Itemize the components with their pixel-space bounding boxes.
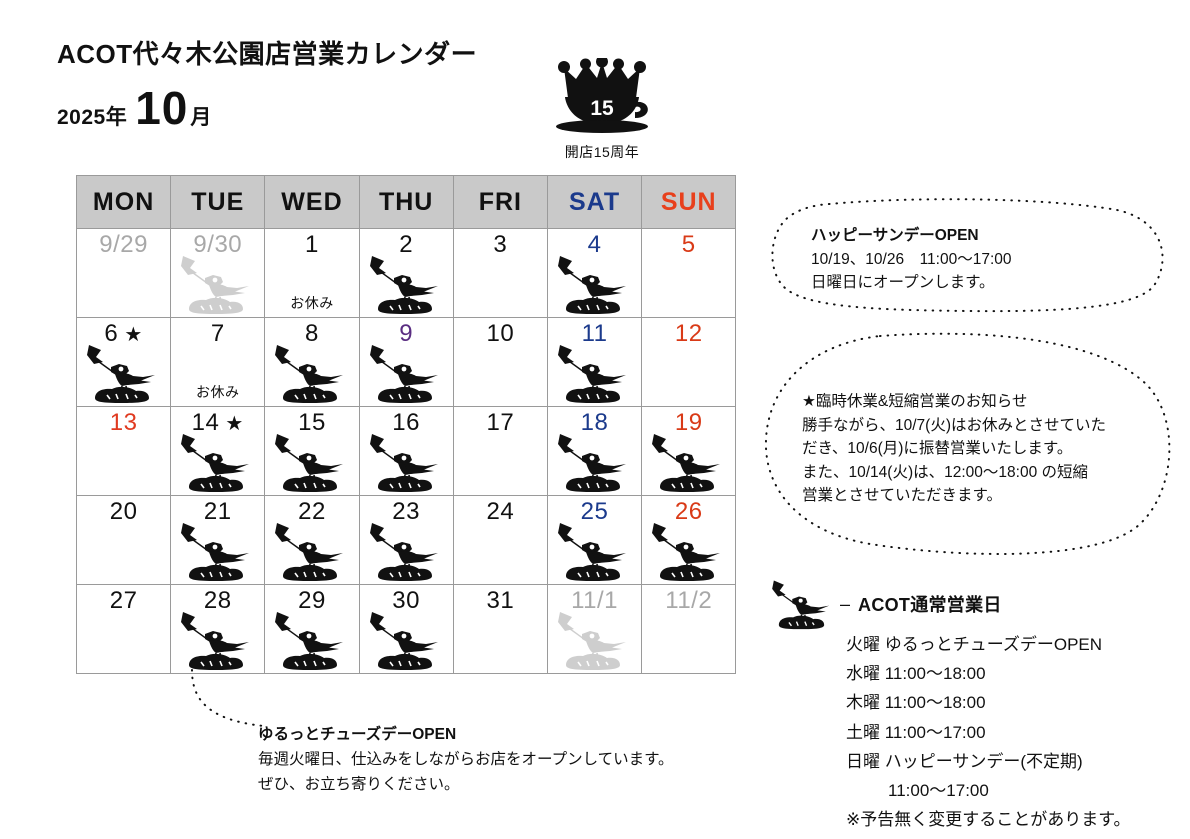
bird-icon (364, 609, 440, 671)
calendar-day-cell[interactable]: 9/29 (77, 229, 171, 318)
anniversary-caption: 開店15周年 (541, 142, 663, 162)
calendar-body: 9/299/301お休み23456 ★7お休み891011121314 ★151… (77, 229, 736, 674)
month-number: 10 (135, 85, 188, 131)
calendar-day-cell[interactable]: 7お休み (171, 318, 265, 407)
weekday-header-wed: WED (265, 176, 359, 229)
calendar-day-cell[interactable]: 9/30 (171, 229, 265, 318)
calendar-day-cell[interactable]: 11/2 (642, 585, 736, 674)
bird-icon (269, 342, 345, 404)
bird-icon (175, 431, 251, 493)
calendar-day-cell[interactable]: 2 (359, 229, 453, 318)
bird-icon (552, 253, 628, 315)
calendar-day-cell[interactable]: 13 (77, 407, 171, 496)
callout-line: だき、10/6(月)に振替営業いたします。 (802, 437, 1106, 461)
calendar-week-row: 20212223242526 (77, 496, 736, 585)
month-heading: 2025年 10 月 (57, 85, 211, 131)
day-number: 31 (454, 588, 547, 614)
weekday-header-thu: THU (359, 176, 453, 229)
bird-icon (762, 578, 836, 630)
calendar-day-cell[interactable]: 27 (77, 585, 171, 674)
calendar-day-cell[interactable]: 26 (642, 496, 736, 585)
bird-icon (175, 520, 251, 582)
tuesday-note-line: 毎週火曜日、仕込みをしながらお店をオープンしています。 (258, 748, 674, 773)
calendar-header-row: MONTUEWEDTHUFRISATSUN (77, 176, 736, 229)
closed-note: お休み (171, 382, 264, 402)
calendar-day-cell[interactable]: 16 (359, 407, 453, 496)
calendar-day-cell[interactable]: 18 (547, 407, 641, 496)
calendar-day-cell[interactable]: 19 (642, 407, 736, 496)
bird-icon (364, 520, 440, 582)
legend-header: – ACOT通常営業日 (762, 580, 1182, 628)
calendar-day-cell[interactable]: 14 ★ (171, 407, 265, 496)
legend-line: 11:00〜17:00 (846, 776, 1182, 805)
calendar-day-cell[interactable]: 5 (642, 229, 736, 318)
weekday-header-sun: SUN (642, 176, 736, 229)
legend-line: 火曜 ゆるっとチューズデーOPEN (846, 630, 1182, 659)
tuesday-open-note: ゆるっとチューズデーOPEN 毎週火曜日、仕込みをしながらお店をオープンしていま… (258, 723, 674, 797)
calendar-day-cell[interactable]: 1お休み (265, 229, 359, 318)
calendar-day-cell[interactable]: 6 ★ (77, 318, 171, 407)
day-number: 1 (265, 232, 358, 258)
calendar-day-cell[interactable]: 8 (265, 318, 359, 407)
day-number: 7 (171, 321, 264, 347)
calendar-day-cell[interactable]: 4 (547, 229, 641, 318)
anniversary-badge: 15 開店15周年 (541, 58, 663, 162)
dotted-leader-line (186, 668, 266, 738)
calendar-day-cell[interactable]: 3 (453, 229, 547, 318)
weekday-header-tue: TUE (171, 176, 265, 229)
calendar-day-cell[interactable]: 23 (359, 496, 453, 585)
calendar-day-cell[interactable]: 24 (453, 496, 547, 585)
callout-line: 勝手ながら、10/7(火)はお休みとさせていた (802, 414, 1106, 438)
closed-note: お休み (265, 293, 358, 313)
month-suffix-label: 月 (190, 101, 211, 131)
page-title: ACOT代々木公園店営業カレンダー (57, 34, 477, 71)
legend-line: 土曜 11:00〜17:00 (846, 718, 1182, 747)
legend-line: 日曜 ハッピーサンデー(不定期) (846, 747, 1182, 776)
calendar-day-cell[interactable]: 9 (359, 318, 453, 407)
bird-icon (175, 253, 251, 315)
day-number: 20 (77, 499, 170, 525)
legend-title: ACOT通常営業日 (858, 591, 1002, 617)
callout-closure-notice: ★臨時休業&短縮営業のお知らせ 勝手ながら、10/7(火)はお休みとさせていた … (760, 330, 1174, 555)
callout-happy-sunday-text: ハッピーサンデーOPEN 10/19、10/26 11:00〜17:00 日曜日… (811, 224, 1012, 295)
bird-icon (269, 431, 345, 493)
calendar-day-cell[interactable]: 29 (265, 585, 359, 674)
legend: – ACOT通常営業日 火曜 ゆるっとチューズデーOPEN水曜 11:00〜18… (762, 580, 1182, 835)
callout-line: 日曜日にオープンします。 (811, 271, 1012, 295)
legend-hours-list: 火曜 ゆるっとチューズデーOPEN水曜 11:00〜18:00木曜 11:00〜… (846, 630, 1182, 835)
tuesday-note-line: ゆるっとチューズデーOPEN (258, 723, 674, 748)
bird-icon (552, 342, 628, 404)
calendar-day-cell[interactable]: 12 (642, 318, 736, 407)
day-number: 11/2 (642, 588, 735, 614)
calendar-week-row: 9/299/301お休み2345 (77, 229, 736, 318)
bird-icon (364, 431, 440, 493)
tuesday-note-line: ぜひ、お立ち寄りください。 (258, 773, 674, 798)
weekday-header-mon: MON (77, 176, 171, 229)
bird-icon (552, 431, 628, 493)
day-number: 5 (642, 232, 735, 258)
day-number: 10 (454, 321, 547, 347)
bird-icon (552, 609, 628, 671)
callout-line: ハッピーサンデーOPEN (811, 224, 1012, 248)
calendar-day-cell[interactable]: 30 (359, 585, 453, 674)
weekday-header-sat: SAT (547, 176, 641, 229)
calendar-day-cell[interactable]: 11 (547, 318, 641, 407)
bird-icon (364, 342, 440, 404)
bird-icon (81, 342, 157, 404)
day-number: 13 (77, 410, 170, 436)
calendar-day-cell[interactable]: 10 (453, 318, 547, 407)
bird-icon (269, 609, 345, 671)
callout-line: また、10/14(火)は、12:00〜18:00 の短縮 (802, 461, 1106, 485)
day-number: 24 (454, 499, 547, 525)
legend-line: 木曜 11:00〜18:00 (846, 688, 1182, 717)
callout-line: ★臨時休業&短縮営業のお知らせ (802, 390, 1106, 414)
calendar-day-cell[interactable]: 22 (265, 496, 359, 585)
weekday-header-fri: FRI (453, 176, 547, 229)
calendar-day-cell[interactable]: 21 (171, 496, 265, 585)
calendar-week-row: 1314 ★1516171819 (77, 407, 736, 496)
callout-closure-notice-text: ★臨時休業&短縮営業のお知らせ 勝手ながら、10/7(火)はお休みとさせていた … (802, 390, 1106, 508)
callout-happy-sunday: ハッピーサンデーOPEN 10/19、10/26 11:00〜17:00 日曜日… (769, 196, 1173, 314)
anniversary-number: 15 (590, 97, 614, 120)
calendar-day-cell[interactable]: 31 (453, 585, 547, 674)
day-number: 3 (454, 232, 547, 258)
crowned-coffee-cup-icon: 15 (541, 58, 663, 136)
calendar-week-row: 6 ★7お休み89101112 (77, 318, 736, 407)
bird-icon (175, 609, 251, 671)
legend-line: 水曜 11:00〜18:00 (846, 659, 1182, 688)
callout-line: 10/19、10/26 11:00〜17:00 (811, 248, 1012, 272)
day-number: 9/29 (77, 232, 170, 258)
day-number: 27 (77, 588, 170, 614)
bird-icon (364, 253, 440, 315)
day-number: 12 (642, 321, 735, 347)
calendar-day-cell[interactable]: 28 (171, 585, 265, 674)
bird-icon (646, 431, 722, 493)
year-label: 2025年 (57, 101, 127, 131)
calendar-day-cell[interactable]: 20 (77, 496, 171, 585)
calendar-day-cell[interactable]: 17 (453, 407, 547, 496)
calendar-day-cell[interactable]: 11/1 (547, 585, 641, 674)
bird-icon (646, 520, 722, 582)
callout-line: 営業とさせていただきます。 (802, 484, 1106, 508)
calendar-week-row: 272829303111/111/2 (77, 585, 736, 674)
bird-icon (269, 520, 345, 582)
day-number: 17 (454, 410, 547, 436)
calendar-day-cell[interactable]: 15 (265, 407, 359, 496)
legend-dash: – (840, 594, 850, 615)
calendar-day-cell[interactable]: 25 (547, 496, 641, 585)
calendar-grid: MONTUEWEDTHUFRISATSUN 9/299/301お休み23456 … (76, 175, 736, 674)
bird-icon (552, 520, 628, 582)
legend-line: ※予告無く変更することがあります。 (846, 805, 1182, 834)
